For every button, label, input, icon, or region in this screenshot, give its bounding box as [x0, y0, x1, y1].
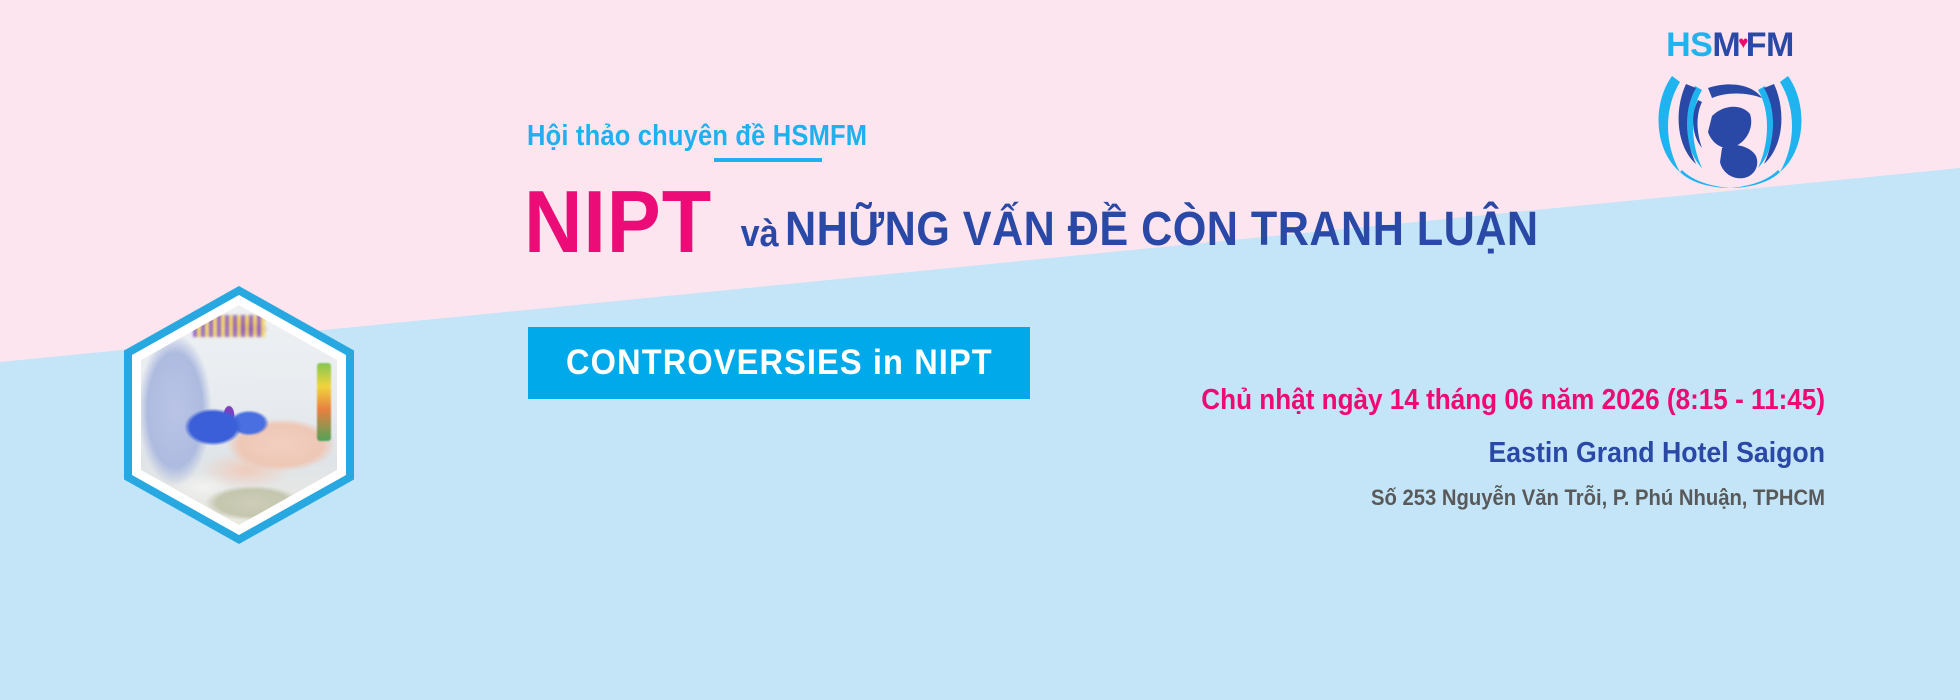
- title-connector: và: [728, 213, 779, 263]
- kicker-text: Hội thảo chuyên đề HSMFM: [527, 120, 867, 153]
- kicker-underline: [714, 158, 822, 162]
- logo-text-hs: HS: [1666, 26, 1712, 64]
- event-banner: Hội thảo chuyên đề HSMFM NIPT và NHỮNG V…: [0, 0, 1960, 700]
- logo-wordmark: HSM♥FM: [1650, 28, 1810, 62]
- logo-text-m: M: [1712, 26, 1740, 64]
- logo-text-fm: FM: [1746, 26, 1794, 64]
- event-date: Chủ nhật ngày 14 tháng 06 năm 2026 (8:15…: [1201, 382, 1825, 418]
- title-rest: NHỮNG VẤN ĐỀ CÒN TRANH LUẬN: [785, 202, 1539, 263]
- cta-banner[interactable]: CONTROVERSIES in NIPT: [528, 327, 1030, 399]
- event-details: Chủ nhật ngày 14 tháng 06 năm 2026 (8:15…: [1132, 382, 1825, 511]
- title-highlight: NIPT: [524, 182, 712, 263]
- hsmfm-logo: HSM♥FM: [1650, 28, 1810, 188]
- event-venue: Eastin Grand Hotel Saigon: [1187, 436, 1825, 471]
- logo-mark-icon: [1650, 64, 1810, 188]
- cta-label: CONTROVERSIES in NIPT: [566, 343, 993, 383]
- event-address: Số 253 Nguyễn Văn Trỗi, P. Phú Nhuận, TP…: [1187, 485, 1825, 511]
- page-title: NIPT và NHỮNG VẤN ĐỀ CÒN TRANH LUẬN: [524, 182, 1622, 263]
- hexagon-photo: [124, 286, 354, 544]
